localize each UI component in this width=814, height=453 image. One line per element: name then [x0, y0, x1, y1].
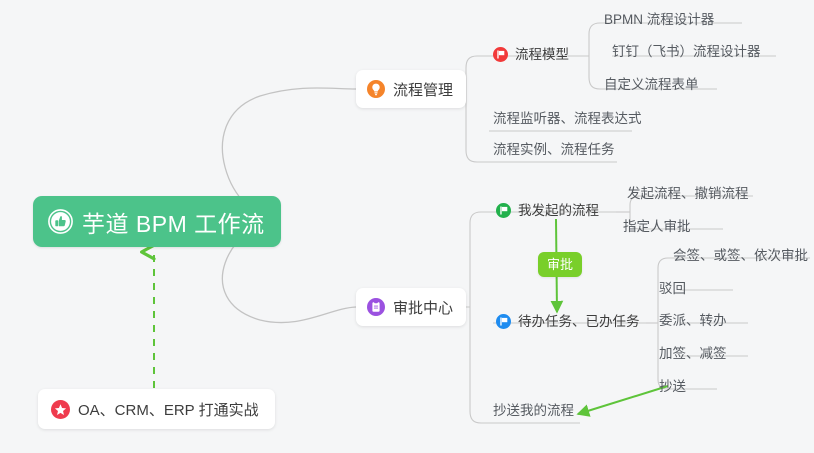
leaf-label: 待办任务、已办任务	[518, 315, 640, 329]
leaf-liucheng-jianting[interactable]: 流程监听器、流程表达式	[493, 112, 642, 126]
root-node[interactable]: 芋道 BPM 工作流	[33, 196, 281, 247]
leaf-huiqian-huoqian-yicishenpi[interactable]: 会签、或签、依次审批	[673, 249, 808, 263]
floating-node-oa-crm-erp[interactable]: OA、CRM、ERP 打通实战	[38, 389, 275, 429]
leaf-chaosong-wode-liucheng[interactable]: 抄送我的流程	[493, 404, 574, 418]
leaf-label: 流程模型	[515, 48, 569, 62]
leaf-chaosong[interactable]: 抄送	[659, 380, 686, 394]
mindmap-canvas: 芋道 BPM 工作流 流程管理 审批中心	[0, 0, 814, 453]
flag-icon-blue	[496, 314, 511, 329]
leaf-custom-form[interactable]: 自定义流程表单	[604, 78, 699, 92]
root-label: 芋道 BPM 工作流	[82, 205, 265, 239]
leaf-weipai-zhuanban[interactable]: 委派、转办	[659, 314, 727, 328]
leaf-liucheng-shili[interactable]: 流程实例、流程任务	[493, 143, 615, 157]
arrow-chaosong	[578, 386, 668, 414]
branch-label-shenpi-zhongxin: 审批中心	[393, 297, 453, 318]
branch-node-shenpi-zhongxin[interactable]: 审批中心	[356, 288, 466, 326]
clipboard-icon	[367, 298, 385, 316]
floating-label-oa-crm-erp: OA、CRM、ERP 打通实战	[78, 399, 259, 420]
flag-icon-green	[496, 203, 511, 218]
branch-node-liucheng-guanli[interactable]: 流程管理	[356, 70, 466, 108]
leaf-daiban-yiban-renwu[interactable]: 待办任务、已办任务	[496, 314, 640, 329]
star-icon	[51, 400, 70, 419]
leaf-label: 我发起的流程	[518, 204, 599, 218]
leaf-zhidingren-shenpi[interactable]: 指定人审批	[623, 220, 691, 234]
leaf-jiaqian-jianqian[interactable]: 加签、减签	[659, 347, 727, 361]
leaf-liucheng-moxing[interactable]: 流程模型	[493, 47, 569, 62]
flag-icon-red	[493, 47, 508, 62]
badge-shenpi[interactable]: 审批	[538, 252, 582, 277]
leaf-faqi-chexiao-liucheng[interactable]: 发起流程、撤销流程	[627, 187, 749, 201]
branch-label-liucheng-guanli: 流程管理	[393, 79, 453, 100]
leaf-bpmn-designer[interactable]: BPMN 流程设计器	[604, 13, 714, 27]
leaf-wo-faqi-liucheng[interactable]: 我发起的流程	[496, 203, 599, 218]
thumbs-up-icon	[48, 209, 73, 234]
leaf-dingding-feishu-designer[interactable]: 钉钉（飞书）流程设计器	[612, 45, 761, 59]
leaf-bohui[interactable]: 驳回	[659, 282, 686, 296]
lightbulb-icon	[367, 80, 385, 98]
